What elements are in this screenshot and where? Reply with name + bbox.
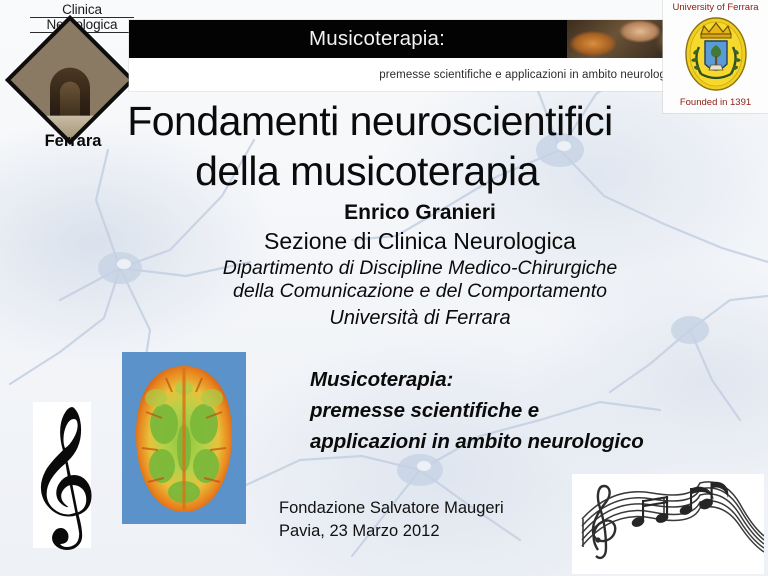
banner-black-bar: Musicoterapia: — [129, 20, 685, 58]
music-staff-notes-icon — [572, 474, 764, 574]
author-section: Sezione di Clinica Neurologica — [120, 226, 720, 257]
pet-brain-scan-icon — [122, 352, 246, 524]
treble-clef-image: 𝄞 — [33, 402, 91, 548]
page-title-line2: della musicoterapia — [54, 146, 680, 196]
footer-place-date: Pavia, 23 Marzo 2012 — [279, 520, 609, 543]
archway-accent — [31, 116, 40, 125]
author-department-line1: Dipartimento di Discipline Medico-Chirur… — [120, 257, 720, 280]
author-block: Enrico Granieri Sezione di Clinica Neuro… — [120, 200, 720, 333]
presentation-slide: Clinica Neurologica Ferrara Musicoterapi… — [0, 0, 768, 576]
author-university: Università di Ferrara — [120, 303, 720, 333]
university-badge-top-label: University of Ferrara — [663, 2, 768, 13]
author-name: Enrico Granieri — [120, 200, 720, 226]
treble-clef-icon: 𝄞 — [27, 415, 98, 535]
subject-block: Musicoterapia: premesse scientifiche e a… — [310, 364, 740, 457]
subject-line2: premesse scientifiche e — [310, 395, 740, 426]
banner-title: Musicoterapia: — [129, 20, 685, 58]
footer-venue: Fondazione Salvatore Maugeri — [279, 497, 609, 520]
page-title-line1: Fondamenti neuroscientifici — [60, 96, 680, 146]
author-department-line2: della Comunicazione e del Comportamento — [120, 280, 720, 303]
banner-subtitle: premesse scientifiche e applicazioni in … — [129, 58, 685, 91]
brain-scan-image — [122, 352, 246, 524]
clinica-logo-line1: Clinica — [30, 3, 134, 18]
music-staff-image — [572, 474, 764, 574]
subject-line3: applicazioni in ambito neurologico — [310, 426, 740, 457]
university-seal-icon — [681, 14, 751, 92]
page-title: Fondamenti neuroscientifici della musico… — [60, 96, 680, 196]
footer-block: Fondazione Salvatore Maugeri Pavia, 23 M… — [279, 497, 609, 543]
subject-line1: Musicoterapia: — [310, 364, 740, 395]
musicoterapia-banner: Musicoterapia: premesse scientifiche e a… — [129, 20, 685, 91]
